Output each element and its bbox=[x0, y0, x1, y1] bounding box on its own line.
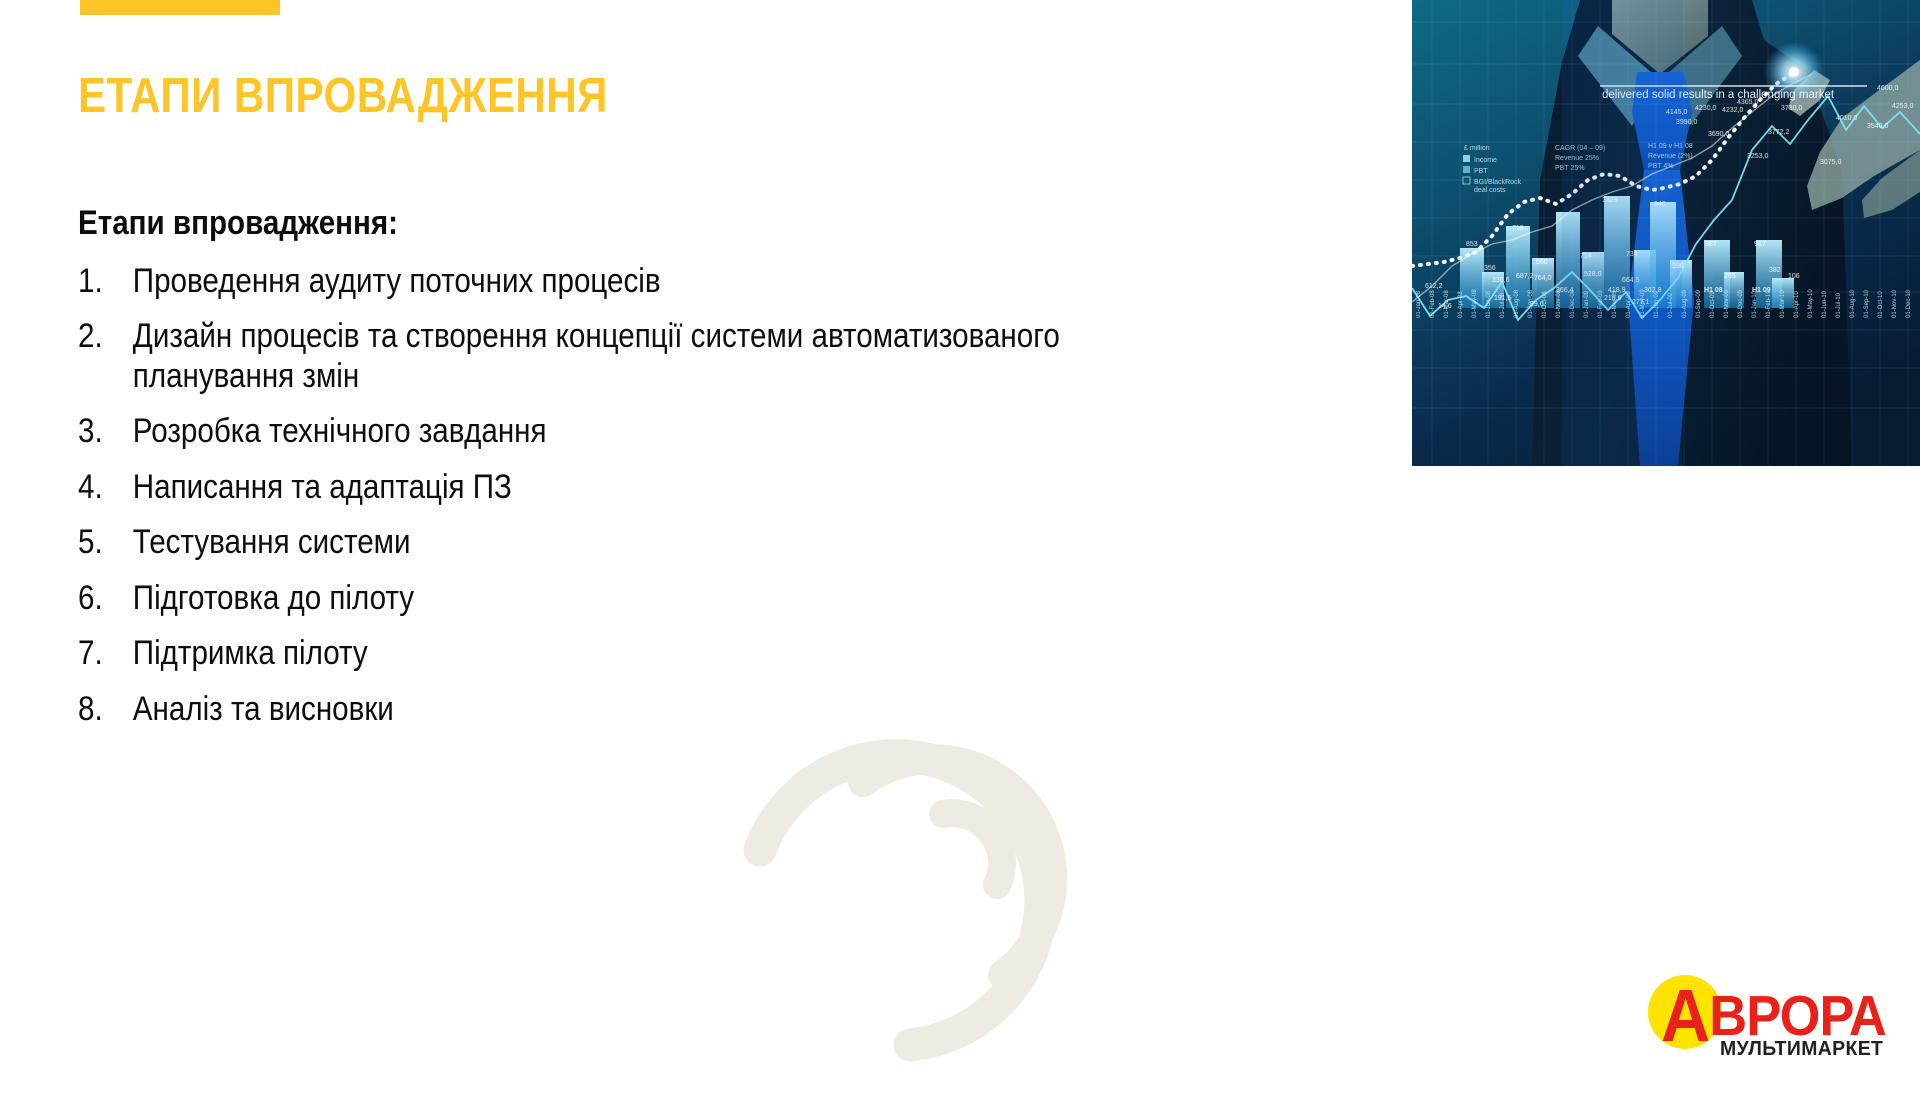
list-item: 7. Підтримка пілоту bbox=[78, 634, 1166, 673]
svg-text:356: 356 bbox=[1484, 265, 1496, 272]
svg-text:3690,0: 3690,0 bbox=[1708, 131, 1730, 138]
svg-text:01-Nov-08: 01-Nov-08 bbox=[1556, 289, 1562, 318]
svg-text:01-Sep-10: 01-Sep-10 bbox=[1864, 289, 1870, 318]
svg-text:01-Nov-10: 01-Nov-10 bbox=[1892, 289, 1898, 318]
steps-list: 1. Проведення аудиту поточних процесів 2… bbox=[78, 262, 1328, 729]
svg-text:01-Oct-10: 01-Oct-10 bbox=[1878, 291, 1884, 318]
svg-text:01-Feb-10: 01-Feb-10 bbox=[1766, 290, 1772, 318]
svg-text:£ million: £ million bbox=[1464, 145, 1490, 152]
list-item: 1. Проведення аудиту поточних процесів bbox=[78, 262, 1166, 301]
svg-text:265: 265 bbox=[1724, 273, 1736, 280]
list-item: 8. Аналіз та висновки bbox=[78, 690, 1166, 729]
svg-text:Income: Income bbox=[1474, 157, 1497, 164]
svg-text:01-Jun-08: 01-Jun-08 bbox=[1486, 290, 1492, 318]
list-item-label: Підтримка пілоту bbox=[133, 634, 1166, 673]
svg-text:967: 967 bbox=[1754, 241, 1766, 248]
list-item-label: Проведення аудиту поточних процесів bbox=[133, 262, 1166, 301]
logo-tagline: МУЛЬТИМАРКЕТ bbox=[1720, 1039, 1883, 1059]
list-item-label: Тестування системи bbox=[133, 523, 1166, 562]
svg-text:01-Sep-08: 01-Sep-08 bbox=[1528, 289, 1534, 318]
list-item-label: Аналіз та висновки bbox=[133, 690, 1166, 729]
svg-text:4010,0: 4010,0 bbox=[1836, 115, 1858, 122]
list-item-number: 5. bbox=[78, 523, 133, 562]
svg-text:01-Aug-10: 01-Aug-10 bbox=[1850, 289, 1856, 318]
svg-text:01-Dec-09: 01-Dec-09 bbox=[1738, 289, 1744, 318]
list-item: 2. Дизайн процесів та створення концепці… bbox=[78, 317, 1166, 396]
svg-text:01-Jun-10: 01-Jun-10 bbox=[1822, 290, 1828, 318]
lead-heading: Етапи впровадження: bbox=[78, 205, 1166, 241]
svg-text:764,0: 764,0 bbox=[1534, 275, 1552, 282]
list-item-label: Підготовка до пілоту bbox=[133, 579, 1166, 618]
svg-text:853: 853 bbox=[1466, 241, 1478, 248]
list-item: 4. Написання та адаптація ПЗ bbox=[78, 468, 1166, 507]
list-item: 5. Тестування системи bbox=[78, 523, 1166, 562]
svg-text:01-Jul-10: 01-Jul-10 bbox=[1836, 292, 1842, 318]
svg-text:01-Jan-10: 01-Jan-10 bbox=[1752, 290, 1758, 318]
list-item-number: 8. bbox=[78, 690, 133, 729]
list-item-number: 1. bbox=[78, 262, 133, 301]
svg-text:718: 718 bbox=[1512, 225, 1524, 232]
svg-text:01-Mar-08: 01-Mar-08 bbox=[1444, 290, 1450, 318]
svg-text:01-Mar-10: 01-Mar-10 bbox=[1780, 290, 1786, 318]
svg-text:3253,0: 3253,0 bbox=[1747, 153, 1769, 160]
svg-text:01-Jan-08: 01-Jan-08 bbox=[1416, 290, 1422, 318]
avrora-logo: АВРОРА МУЛЬТИМАРКЕТ bbox=[1648, 972, 1898, 1064]
svg-text:560: 560 bbox=[1536, 259, 1548, 266]
list-item-number: 3. bbox=[78, 412, 133, 451]
svg-text:4230,0: 4230,0 bbox=[1695, 105, 1717, 112]
svg-text:987: 987 bbox=[1705, 241, 1717, 248]
spiral-watermark-icon bbox=[735, 690, 1195, 1090]
svg-text:deal costs: deal costs bbox=[1474, 187, 1506, 194]
svg-text:01-Sep-09: 01-Sep-09 bbox=[1696, 289, 1702, 318]
svg-text:BGI/BlackRock: BGI/BlackRock bbox=[1474, 179, 1522, 186]
business-analytics-photo: delivered solid results in a challenging… bbox=[1412, 0, 1920, 466]
logo-brand-initial: А bbox=[1661, 974, 1709, 1057]
list-item: 6. Підготовка до пілоту bbox=[78, 579, 1166, 618]
page-title: ЕТАПИ ВПРОВАДЖЕННЯ bbox=[78, 68, 608, 124]
list-item-number: 2. bbox=[78, 317, 133, 356]
svg-text:3075,0: 3075,0 bbox=[1820, 159, 1842, 166]
accent-bar bbox=[80, 0, 280, 15]
svg-text:01-Nov-09: 01-Nov-09 bbox=[1724, 289, 1730, 318]
list-item-number: 7. bbox=[78, 634, 133, 673]
svg-text:01-Oct-09: 01-Oct-09 bbox=[1710, 291, 1716, 318]
list-item-number: 4. bbox=[78, 468, 133, 507]
list-item-label: Написання та адаптація ПЗ bbox=[133, 468, 1166, 507]
svg-text:01-Jul-08: 01-Jul-08 bbox=[1500, 292, 1506, 318]
list-item: 3. Розробка технічного завдання bbox=[78, 412, 1166, 451]
svg-text:4365,0: 4365,0 bbox=[1737, 99, 1759, 106]
svg-text:3540,0: 3540,0 bbox=[1867, 123, 1889, 130]
svg-text:01-Aug-08: 01-Aug-08 bbox=[1514, 289, 1520, 318]
list-item-label: Розробка технічного завдання bbox=[133, 412, 1166, 451]
svg-text:01-Oct-08: 01-Oct-08 bbox=[1542, 291, 1548, 318]
list-item-number: 6. bbox=[78, 579, 133, 618]
svg-text:336,6: 336,6 bbox=[1492, 277, 1510, 284]
svg-text:01-Apr-08: 01-Apr-08 bbox=[1458, 291, 1464, 318]
svg-text:01-Feb-08: 01-Feb-08 bbox=[1430, 290, 1436, 318]
svg-text:01-May-08: 01-May-08 bbox=[1472, 289, 1478, 318]
svg-text:PBT: PBT bbox=[1474, 168, 1488, 175]
svg-text:382: 382 bbox=[1769, 267, 1781, 274]
svg-text:01-Aug-09: 01-Aug-09 bbox=[1682, 289, 1688, 318]
svg-text:01-Dec-10: 01-Dec-10 bbox=[1906, 289, 1912, 318]
svg-text:4600,0: 4600,0 bbox=[1877, 85, 1899, 92]
list-item-label: Дизайн процесів та створення концепції с… bbox=[133, 317, 1166, 396]
svg-text:3730,0: 3730,0 bbox=[1781, 105, 1803, 112]
svg-text:4253,0: 4253,0 bbox=[1892, 103, 1914, 110]
svg-text:106: 106 bbox=[1788, 273, 1800, 280]
svg-text:4232,0: 4232,0 bbox=[1722, 107, 1744, 114]
body-content: Етапи впровадження: 1. Проведення аудиту… bbox=[78, 205, 1328, 745]
svg-text:01-Apr-10: 01-Apr-10 bbox=[1794, 291, 1800, 318]
svg-text:01-May-10: 01-May-10 bbox=[1808, 289, 1814, 318]
svg-text:612,2: 612,2 bbox=[1425, 283, 1443, 290]
svg-text:3772,2: 3772,2 bbox=[1768, 129, 1790, 136]
svg-text:687,2: 687,2 bbox=[1516, 273, 1534, 280]
